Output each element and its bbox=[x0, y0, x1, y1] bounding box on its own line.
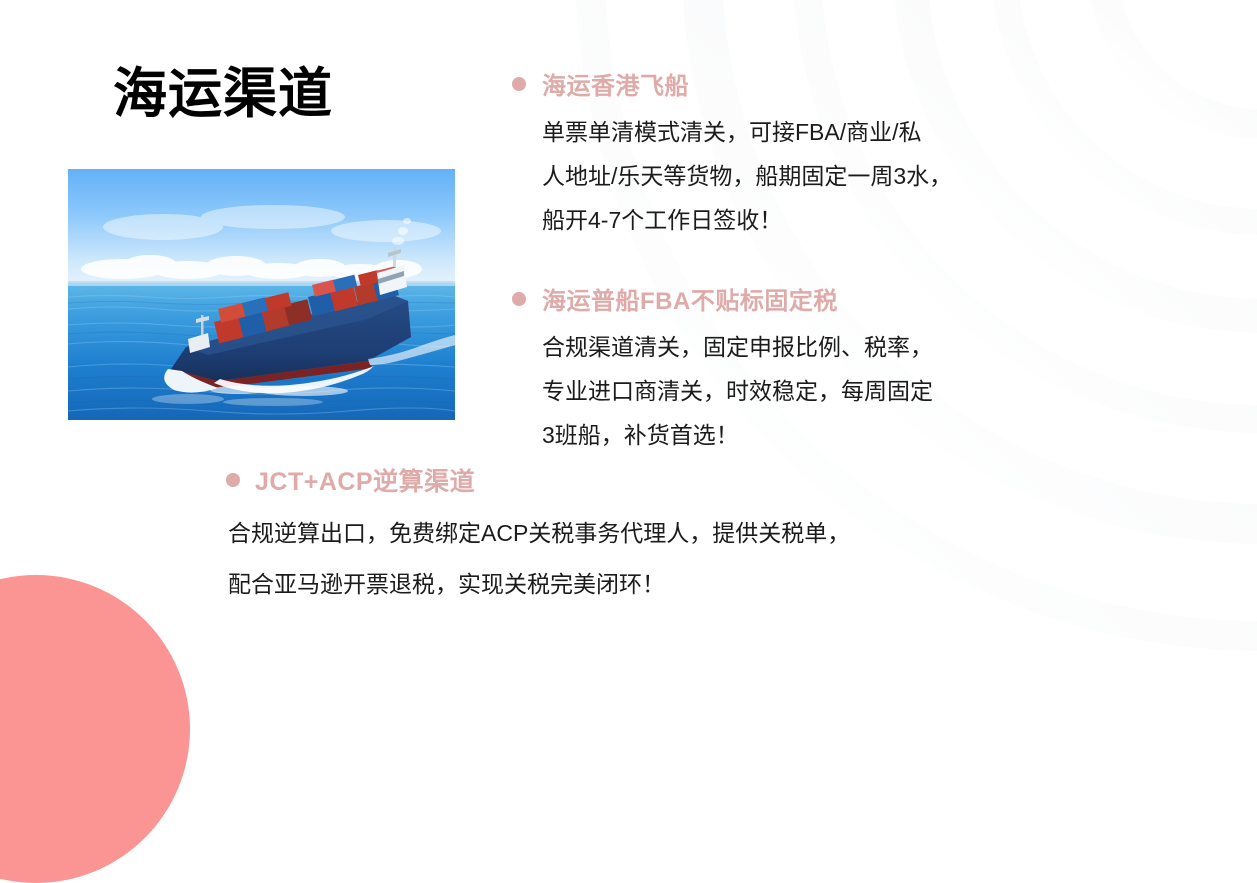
bullet-dot-icon bbox=[226, 473, 240, 487]
container-ship-photo bbox=[68, 169, 455, 420]
bullet-dot-icon bbox=[512, 77, 526, 91]
bullet-heading-row-2: 海运普船FBA不贴标固定税 bbox=[512, 281, 1072, 316]
bullet-block-3: JCT+ACP逆算渠道 合规逆算出口，免费绑定ACP关税事务代理人，提供关税单，… bbox=[226, 462, 926, 610]
slide-canvas: 海运渠道 bbox=[0, 0, 1257, 706]
bullet-block-2: 海运普船FBA不贴标固定税 合规渠道清关，固定申报比例、税率， 专业进口商清关，… bbox=[512, 281, 1072, 457]
bullet-dot-icon bbox=[512, 292, 526, 306]
bullet-heading-2: 海运普船FBA不贴标固定税 bbox=[542, 281, 838, 316]
page-title: 海运渠道 bbox=[113, 62, 333, 127]
bullet-heading-row-3: JCT+ACP逆算渠道 bbox=[226, 462, 926, 498]
bullet-heading-row-1: 海运香港飞船 bbox=[512, 66, 1072, 101]
bullet-heading-1: 海运香港飞船 bbox=[542, 66, 689, 101]
bullet-body-1: 单票单清模式清关，可接FBA/商业/私 人地址/乐天等货物，船期固定一周3水， … bbox=[512, 110, 1072, 242]
bullet-block-1: 海运香港飞船 单票单清模式清关，可接FBA/商业/私 人地址/乐天等货物，船期固… bbox=[512, 66, 1072, 242]
bullet-body-3: 合规逆算出口，免费绑定ACP关税事务代理人，提供关税单， 配合亚马逊开票退税，实… bbox=[226, 508, 926, 610]
bullet-body-2: 合规渠道清关，固定申报比例、税率， 专业进口商清关，时效稳定，每周固定 3班船，… bbox=[512, 325, 1072, 457]
bullet-heading-3: JCT+ACP逆算渠道 bbox=[255, 462, 475, 498]
